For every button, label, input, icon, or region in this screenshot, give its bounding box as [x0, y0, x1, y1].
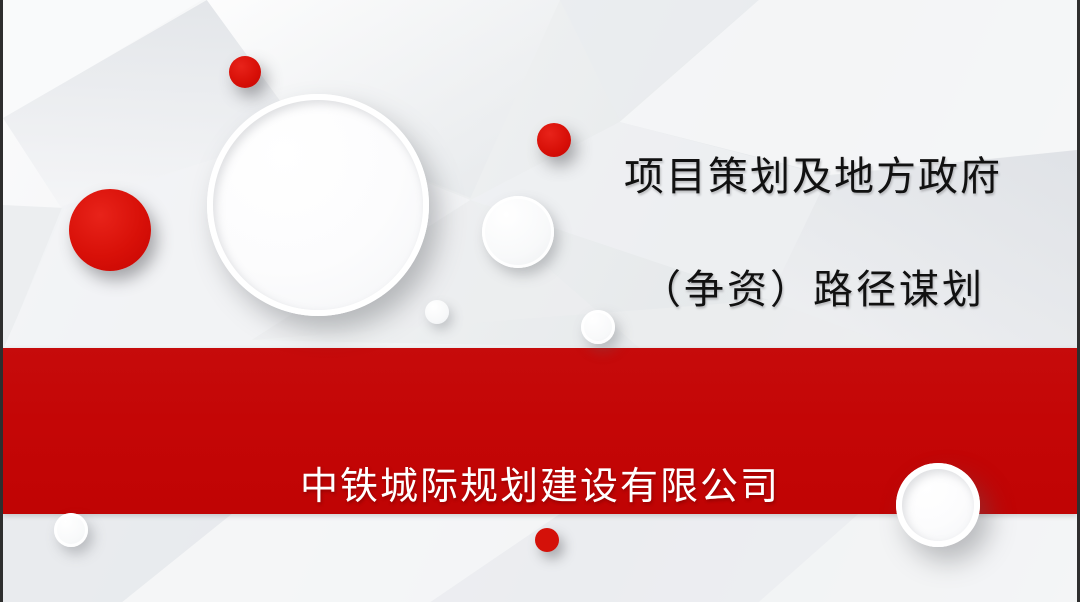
white-accent-circle-bottom-left — [54, 513, 88, 547]
red-accent-dot-bottom — [535, 528, 559, 552]
company-name: 中铁城际规划建设有限公司 — [3, 455, 1077, 510]
title-line-1: 项目策划及地方政府 — [563, 149, 1063, 206]
red-accent-dot-left — [69, 189, 151, 271]
title-line-2: （争资）路径谋划 — [563, 262, 1063, 319]
large-white-ring — [207, 94, 429, 316]
slide-title: 项目策划及地方政府 （争资）路径谋划 — [563, 92, 1063, 376]
white-accent-circle-medium — [482, 196, 554, 268]
white-accent-circle-tiny — [425, 300, 449, 324]
red-accent-dot-top — [229, 56, 261, 88]
presentation-slide: 项目策划及地方政府 （争资）路径谋划 中铁城际规划建设有限公司 — [0, 0, 1080, 602]
